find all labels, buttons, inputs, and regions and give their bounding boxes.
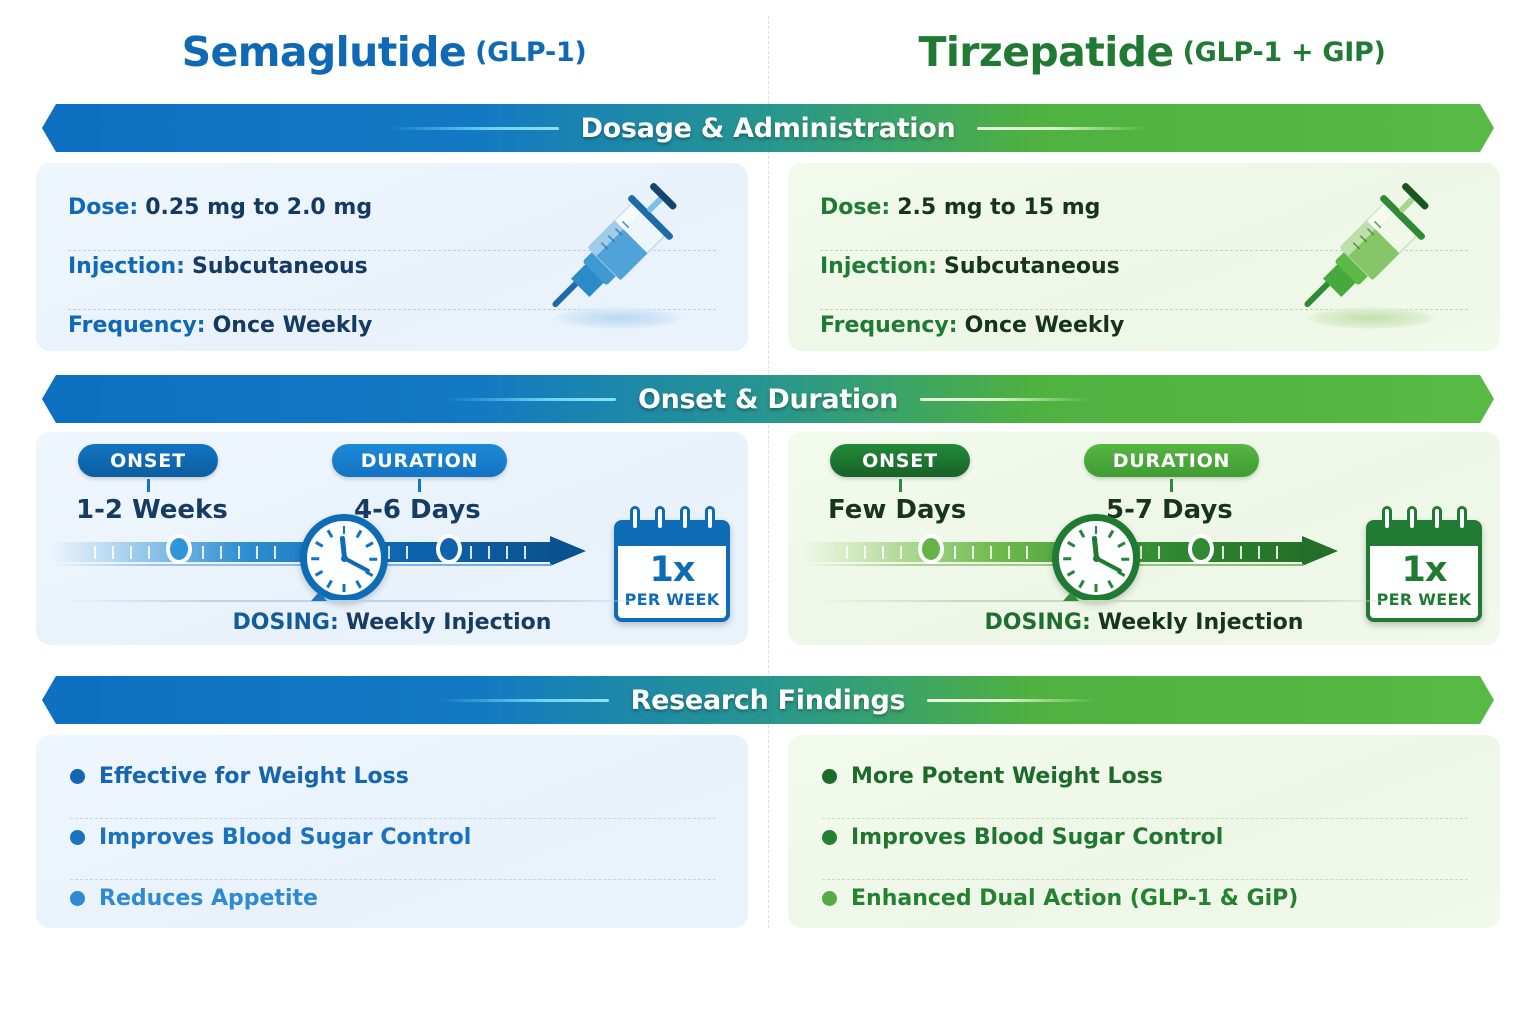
dosage-label-dose: Dose:: [68, 195, 138, 220]
section-banner-research: Research Findings: [30, 676, 1506, 724]
onset-marker: [166, 534, 192, 564]
onset-badge: ONSET: [830, 444, 970, 477]
findings-separator-2: [70, 879, 716, 880]
syringe-icon-wrap-right: [1251, 175, 1466, 345]
dosage-label-injection: Injection:: [68, 254, 185, 279]
findings-list-left: Effective for Weight Loss Improves Blood…: [70, 749, 724, 925]
onset-value: 1-2 Weeks: [76, 495, 228, 525]
banner-accent-line-left: [439, 699, 609, 702]
dosage-label-frequency: Frequency:: [820, 313, 958, 338]
calendar-count: 1x: [1370, 550, 1478, 590]
dosage-row-injection: Injection: Subcutaneous: [820, 240, 1300, 292]
calendar-body: 1x PER WEEK: [614, 520, 730, 622]
dosage-value-injection: Subcutaneous: [192, 254, 368, 279]
clock-icon: [300, 514, 388, 602]
calendar-body: 1x PER WEEK: [1366, 520, 1482, 622]
calendar-count: 1x: [618, 550, 726, 590]
dosage-row-frequency: Frequency: Once Weekly: [820, 299, 1300, 351]
dosage-value-frequency: Once Weekly: [965, 313, 1125, 338]
finding-text: Enhanced Dual Action (GLP-1 & GiP): [851, 886, 1298, 911]
onset-value: Few Days: [828, 495, 966, 525]
syringe-icon: [1279, 181, 1449, 331]
column-header-right: Tirzepatide (GLP-1 + GIP): [768, 18, 1536, 86]
dosing-label: DOSING:: [985, 610, 1091, 635]
duration-badge-stem: [1170, 479, 1173, 492]
bullet-icon: [70, 769, 85, 784]
calendar-icon: 1x PER WEEK: [614, 506, 730, 622]
column-header-left: Semaglutide (GLP-1): [0, 18, 768, 86]
duration-badge: DURATION: [1084, 444, 1259, 477]
section-banner-dosage: Dosage & Administration: [30, 104, 1506, 152]
findings-separator-2: [822, 879, 1468, 880]
calendar-ring: [1382, 506, 1392, 531]
calendar-ring: [680, 506, 690, 531]
calendar-icon: 1x PER WEEK: [1366, 506, 1482, 622]
calendar-ring: [705, 506, 715, 531]
calendar-ring: [1457, 506, 1467, 531]
banner-accent-line-left: [389, 127, 559, 130]
findings-separator-1: [70, 818, 716, 819]
dosage-value-frequency: Once Weekly: [213, 313, 373, 338]
clock-pivot: [1093, 555, 1100, 562]
timeline-card-right: ONSET DURATION Few Days 5-7 Days: [788, 432, 1500, 645]
dosage-label-frequency: Frequency:: [68, 313, 206, 338]
dosage-label-dose: Dose:: [820, 195, 890, 220]
bullet-icon: [822, 769, 837, 784]
dosage-rows-left: Dose: 0.25 mg to 2.0 mg Injection: Subcu…: [68, 181, 548, 351]
dosing-footer: DOSING: Weekly Injection: [788, 610, 1500, 635]
dosage-row-dose: Dose: 0.25 mg to 2.0 mg: [68, 181, 548, 233]
column-headers: Semaglutide (GLP-1) Tirzepatide (GLP-1 +…: [0, 18, 1536, 86]
finding-item: Effective for Weight Loss: [70, 749, 724, 803]
dosing-value: Weekly Injection: [346, 610, 552, 635]
banner-accent-line-right: [977, 127, 1147, 130]
timeline-arrowhead: [550, 536, 586, 566]
calendar-ring: [1407, 506, 1417, 531]
dosing-caret: [1063, 592, 1079, 601]
clock-face: [1052, 514, 1140, 602]
banner-title-onset: Onset & Duration: [638, 384, 898, 415]
section-banner-onset: Onset & Duration: [30, 375, 1506, 423]
timeline-card-left: ONSET DURATION 1-2 Weeks 4-6 Days: [36, 432, 748, 645]
findings-separator-1: [822, 818, 1468, 819]
clock-icon: [1052, 514, 1140, 602]
dosing-value: Weekly Injection: [1098, 610, 1304, 635]
dosing-caret: [311, 592, 327, 601]
syringe-icon: [527, 181, 697, 331]
banner-accent-line-right: [927, 699, 1097, 702]
duration-marker: [436, 534, 462, 564]
clock-pivot: [341, 555, 348, 562]
banner-accent-line-left: [446, 398, 616, 401]
dosage-row-injection: Injection: Subcutaneous: [68, 240, 548, 292]
finding-text: Reduces Appetite: [99, 886, 318, 911]
dosage-value-injection: Subcutaneous: [944, 254, 1120, 279]
dosing-rule: [812, 600, 1412, 602]
duration-marker: [1188, 534, 1214, 564]
dosage-row-dose: Dose: 2.5 mg to 15 mg: [820, 181, 1300, 233]
duration-badge-stem: [418, 479, 421, 492]
onset-badge: ONSET: [78, 444, 218, 477]
bullet-icon: [70, 830, 85, 845]
timeline-arrowhead: [1302, 536, 1338, 566]
dosing-label: DOSING:: [233, 610, 339, 635]
dosage-card-right: Dose: 2.5 mg to 15 mg Injection: Subcuta…: [788, 163, 1500, 351]
findings-list-right: More Potent Weight Loss Improves Blood S…: [822, 749, 1476, 925]
calendar-ring: [1432, 506, 1442, 531]
banner-title-research: Research Findings: [631, 685, 906, 716]
bullet-icon: [822, 891, 837, 906]
banner-accent-line-right: [920, 398, 1090, 401]
column-divider: [768, 16, 769, 928]
dosage-rows-right: Dose: 2.5 mg to 15 mg Injection: Subcuta…: [820, 181, 1300, 351]
finding-text: Effective for Weight Loss: [99, 764, 409, 789]
infographic-canvas: Semaglutide (GLP-1) Tirzepatide (GLP-1 +…: [0, 0, 1536, 1024]
finding-text: More Potent Weight Loss: [851, 764, 1163, 789]
dosage-value-dose: 0.25 mg to 2.0 mg: [145, 195, 372, 220]
calendar-ring: [655, 506, 665, 531]
banner-title-dosage: Dosage & Administration: [581, 113, 956, 144]
clock-face: [300, 514, 388, 602]
drug-mechanism-right: (GLP-1 + GIP): [1183, 37, 1386, 68]
dosing-rule: [60, 600, 660, 602]
dosage-card-left: Dose: 0.25 mg to 2.0 mg Injection: Subcu…: [36, 163, 748, 351]
onset-badge-stem: [147, 479, 150, 492]
bullet-icon: [70, 891, 85, 906]
dosage-label-injection: Injection:: [820, 254, 937, 279]
finding-text: Improves Blood Sugar Control: [99, 825, 471, 850]
drug-name-right: Tirzepatide: [918, 28, 1173, 76]
drug-mechanism-left: (GLP-1): [475, 37, 586, 68]
duration-badge: DURATION: [332, 444, 507, 477]
findings-card-right: More Potent Weight Loss Improves Blood S…: [788, 735, 1500, 928]
finding-item: More Potent Weight Loss: [822, 749, 1476, 803]
dosing-footer: DOSING: Weekly Injection: [36, 610, 748, 635]
finding-text: Improves Blood Sugar Control: [851, 825, 1223, 850]
calendar-ring: [630, 506, 640, 531]
onset-marker: [918, 534, 944, 564]
findings-card-left: Effective for Weight Loss Improves Blood…: [36, 735, 748, 928]
dosage-row-frequency: Frequency: Once Weekly: [68, 299, 548, 351]
dosage-value-dose: 2.5 mg to 15 mg: [897, 195, 1100, 220]
onset-badge-stem: [899, 479, 902, 492]
bullet-icon: [822, 830, 837, 845]
syringe-icon-wrap-left: [499, 175, 714, 345]
drug-name-left: Semaglutide: [182, 28, 467, 76]
